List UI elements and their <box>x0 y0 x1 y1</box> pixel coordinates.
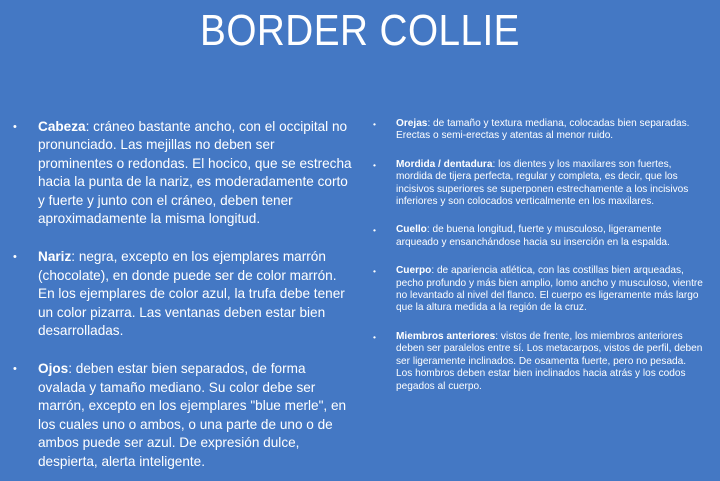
right-bullet-term: Mordida / dentadura <box>396 159 492 170</box>
left-bullet-text: Ojos: deben estar bien separados, de for… <box>38 360 352 470</box>
right-bullet-description: de tamaño y textura mediana, colocadas b… <box>396 118 689 141</box>
slide-body: •Cabeza: cráneo bastante ancho, con el o… <box>0 118 720 481</box>
right-bullet-description: de apariencia atlética, con las costilla… <box>396 265 703 313</box>
right-bullet-term: Cuello <box>396 224 427 235</box>
slide-title: BORDER COLLIE <box>43 6 677 56</box>
right-bullet-item: •Miembros anteriores: vistos de frente, … <box>368 331 704 393</box>
right-bullet-text: Cuerpo: de apariencia atlética, con las … <box>396 265 704 315</box>
right-bullet-description: de buena longitud, fuerte y musculoso, l… <box>396 224 670 247</box>
right-bullet-item: •Cuerpo: de apariencia atlética, con las… <box>368 265 704 315</box>
bullet-marker-icon: • <box>13 360 17 378</box>
left-content-column: •Cabeza: cráneo bastante ancho, con el o… <box>8 118 352 481</box>
left-bullet-term: Cabeza <box>38 119 86 134</box>
bullet-marker-icon: • <box>373 118 376 130</box>
left-bullet-description: deben estar bien separados, de forma ova… <box>38 361 346 468</box>
bullet-marker-icon: • <box>373 265 376 277</box>
right-bullet-item: •Mordida / dentadura: los dientes y los … <box>368 159 704 209</box>
left-bullet-item: •Nariz: negra, excepto en los ejemplares… <box>8 248 352 340</box>
left-bullet-separator: : <box>71 249 79 264</box>
left-bullet-term: Ojos <box>38 361 68 376</box>
bullet-marker-icon: • <box>373 331 376 343</box>
left-bullet-item: •Ojos: deben estar bien separados, de fo… <box>8 360 352 470</box>
bullet-marker-icon: • <box>13 118 17 136</box>
bullet-marker-icon: • <box>373 224 376 236</box>
bullet-marker-icon: • <box>373 159 376 171</box>
left-bullet-description: negra, excepto en los ejemplares marrón … <box>38 249 345 338</box>
right-bullet-item: •Orejas: de tamaño y textura mediana, co… <box>368 118 704 143</box>
left-bullet-text: Nariz: negra, excepto en los ejemplares … <box>38 248 352 340</box>
right-bullet-term: Miembros anteriores <box>396 331 495 342</box>
left-bullet-item: •Cabeza: cráneo bastante ancho, con el o… <box>8 118 352 228</box>
right-content-column: •Orejas: de tamaño y textura mediana, co… <box>368 118 704 409</box>
right-bullet-text: Mordida / dentadura: los dientes y los m… <box>396 159 704 209</box>
left-bullet-list: •Cabeza: cráneo bastante ancho, con el o… <box>8 118 352 471</box>
left-bullet-term: Nariz <box>38 249 71 264</box>
right-bullet-term: Cuerpo <box>396 265 431 276</box>
left-bullet-description: cráneo bastante ancho, con el occipital … <box>38 119 352 226</box>
right-bullet-text: Cuello: de buena longitud, fuerte y musc… <box>396 224 704 249</box>
slide-canvas: BORDER COLLIE •Cabeza: cráneo bastante a… <box>0 0 720 481</box>
right-bullet-term: Orejas <box>396 118 427 129</box>
right-bullet-text: Miembros anteriores: vistos de frente, l… <box>396 331 704 393</box>
right-bullet-list: •Orejas: de tamaño y textura mediana, co… <box>368 118 704 393</box>
left-bullet-text: Cabeza: cráneo bastante ancho, con el oc… <box>38 118 352 228</box>
right-bullet-item: •Cuello: de buena longitud, fuerte y mus… <box>368 224 704 249</box>
left-bullet-separator: : <box>68 361 76 376</box>
bullet-marker-icon: • <box>13 248 17 266</box>
right-bullet-text: Orejas: de tamaño y textura mediana, col… <box>396 118 704 143</box>
